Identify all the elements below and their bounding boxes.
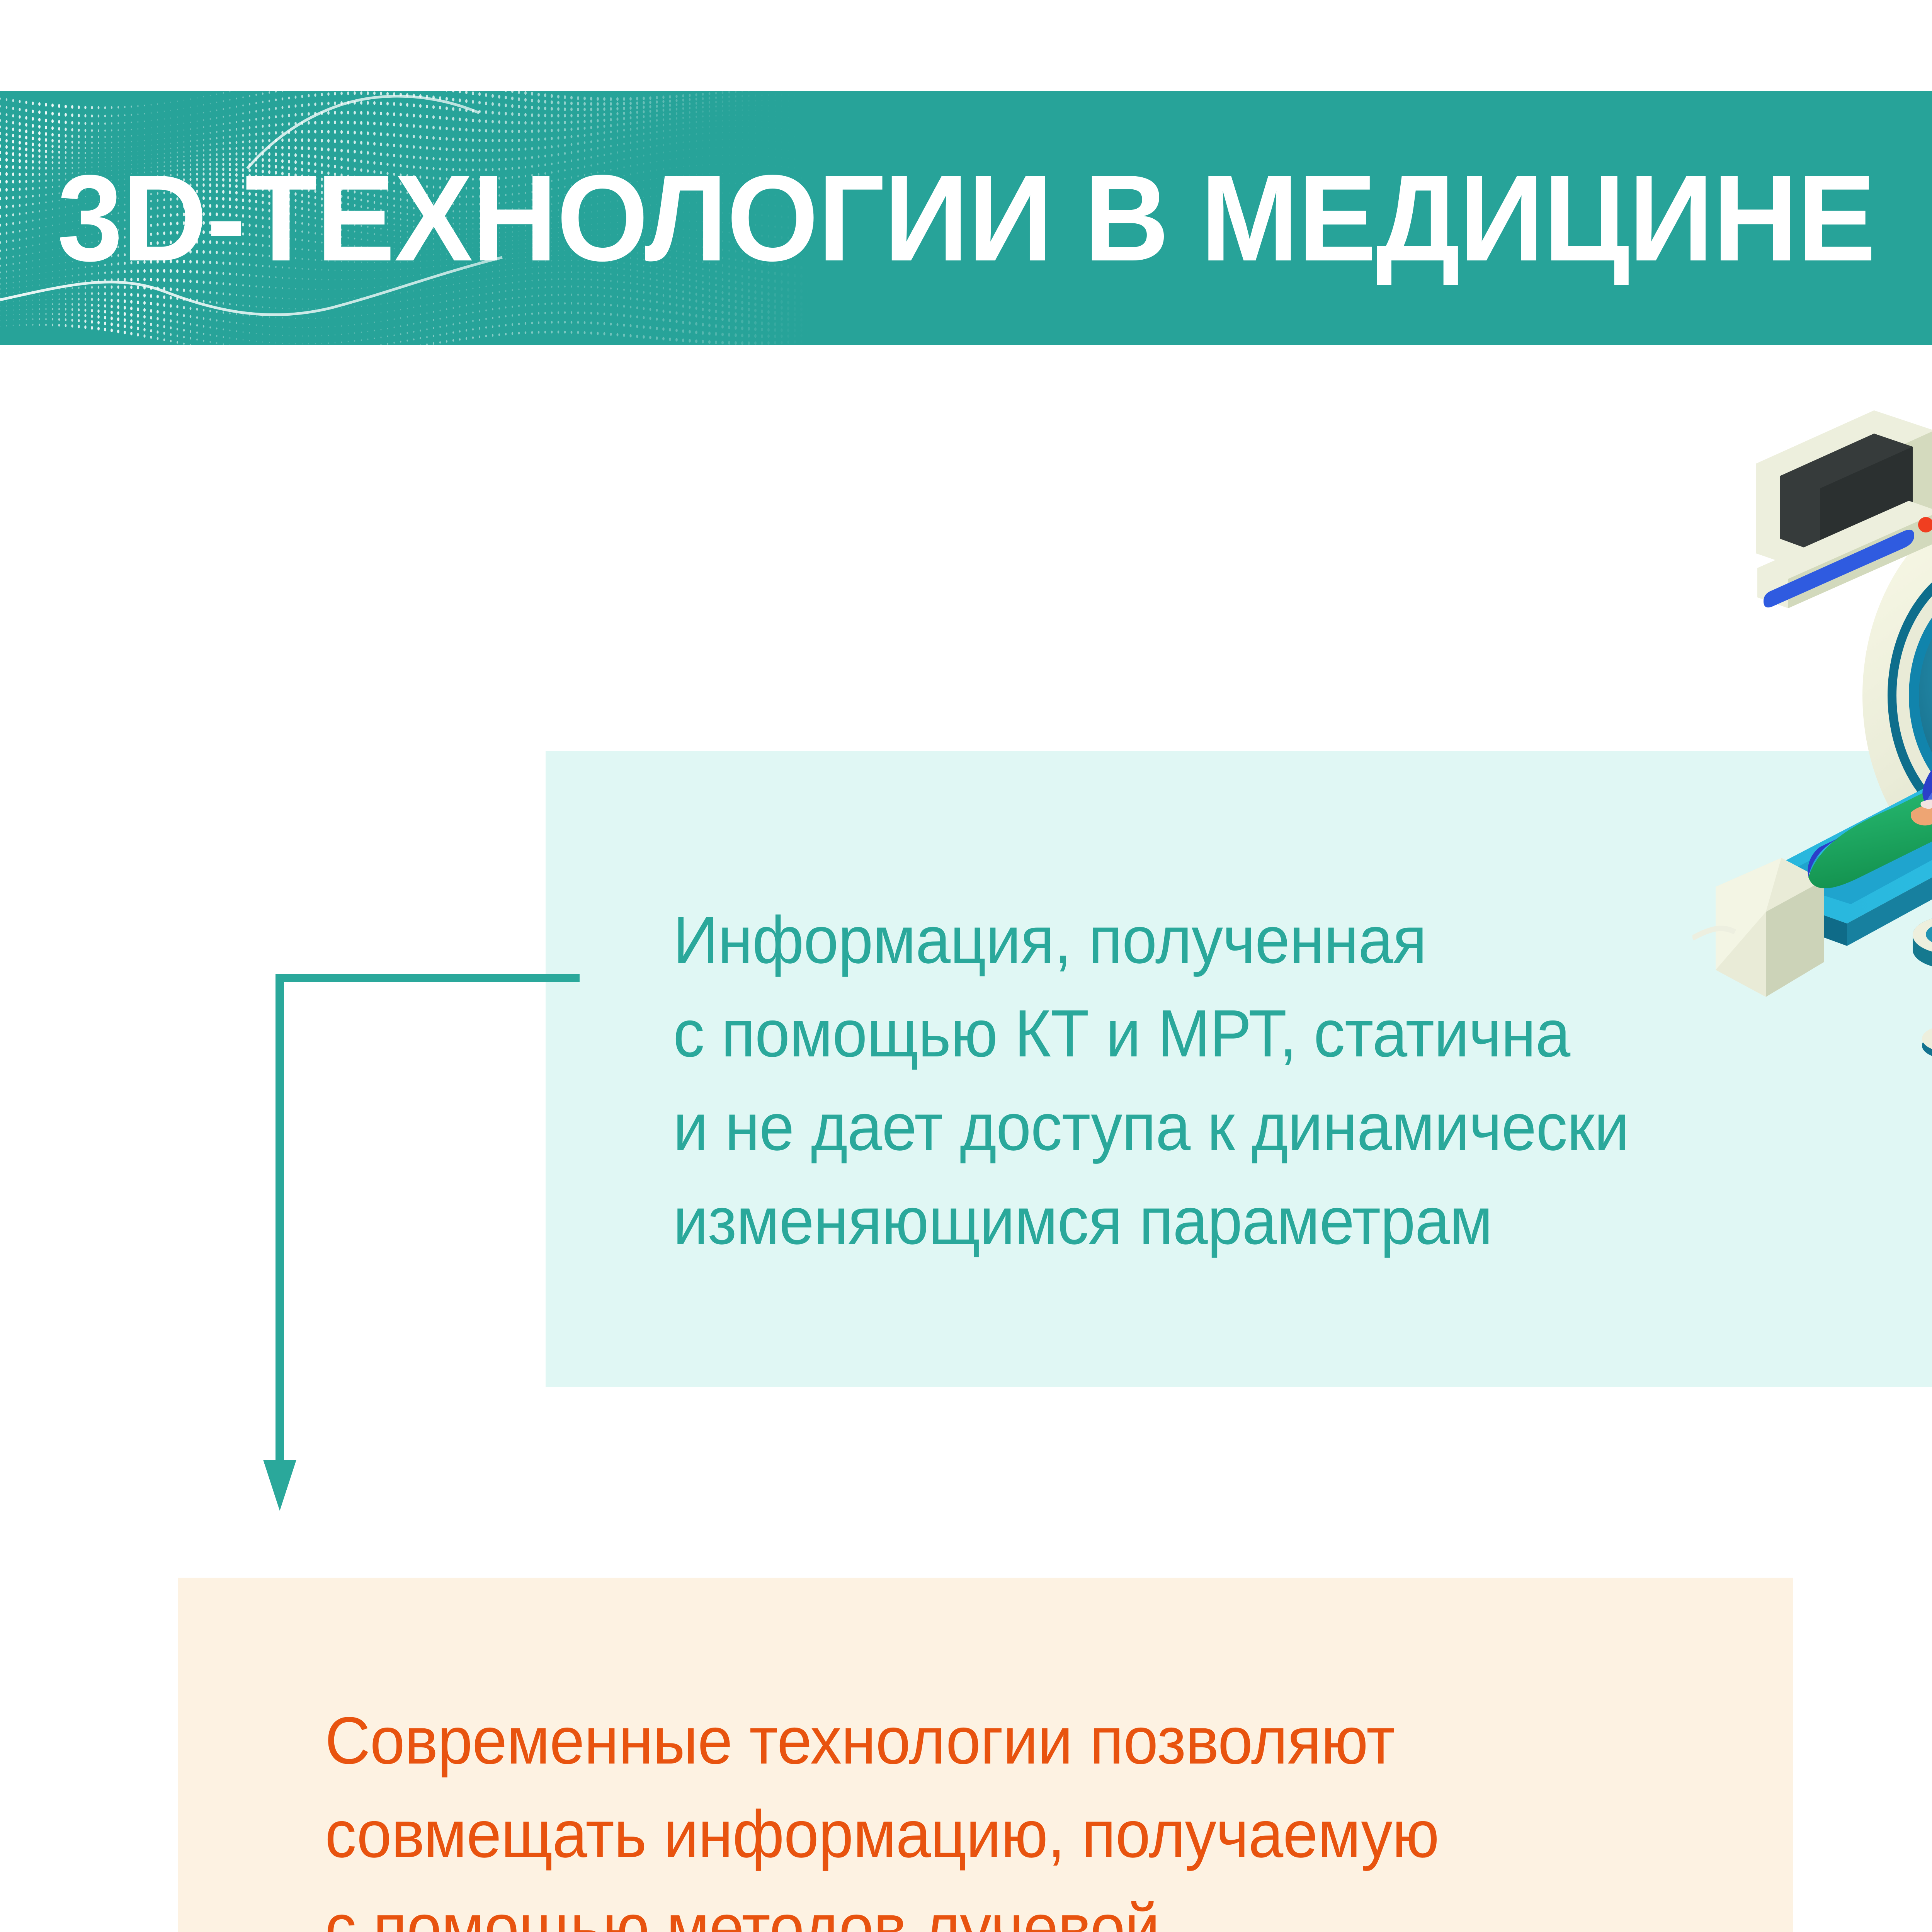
mri-scanner-illustration xyxy=(1692,402,1932,1082)
floor-stand xyxy=(1913,916,1932,1060)
orange-info-text: Современные технологии позволяют совмеща… xyxy=(325,1694,1669,1932)
page-title: 3D-ТЕХНОЛОГИИ В МЕДИЦИНЕ xyxy=(57,91,1875,345)
orange-info-box: Современные технологии позволяют совмеща… xyxy=(178,1578,1793,1932)
header-banner: 3D-ТЕХНОЛОГИИ В МЕДИЦИНЕ xyxy=(0,91,1932,345)
teal-arrowhead-icon xyxy=(263,1460,296,1511)
teal-connector-arrow xyxy=(263,974,580,1515)
teal-info-text: Информация, полученная с помощью КТ и МР… xyxy=(673,893,1872,1267)
